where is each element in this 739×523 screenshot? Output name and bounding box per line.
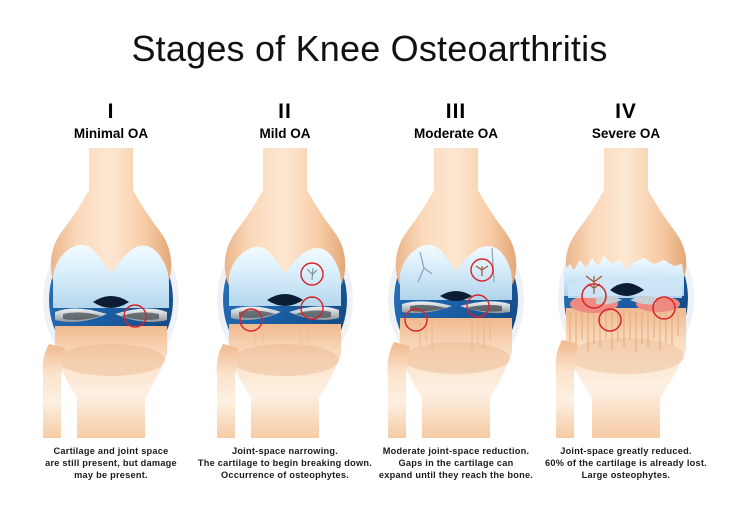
stage-caption: Moderate joint-space reduction. Gaps in … <box>360 445 552 482</box>
fibula-bone <box>43 344 65 438</box>
knee-illustration-stage-4 <box>534 148 718 438</box>
stage-caption: Joint-space greatly reduced. 60% of the … <box>530 445 722 482</box>
stage-numeral: I <box>19 100 203 124</box>
stage-panel-4: IV Severe OA <box>534 100 718 523</box>
stage-caption: Cartilage and joint space are still pres… <box>15 445 207 482</box>
stage-panels: I Minimal OA <box>0 100 739 523</box>
knee-osteoarthritis-infographic: Stages of Knee Osteoarthritis I Minimal … <box>0 0 739 523</box>
stage-name: Minimal OA <box>19 126 203 142</box>
stage-name: Moderate OA <box>364 126 548 142</box>
stage-panel-1: I Minimal OA <box>19 100 203 523</box>
knee-illustration-stage-1 <box>19 148 203 438</box>
fibula-bone <box>217 344 239 438</box>
stage-panel-3: III Moderate OA <box>364 100 548 523</box>
stage-name: Severe OA <box>534 126 718 142</box>
knee-illustration-stage-3 <box>364 148 548 438</box>
page-title: Stages of Knee Osteoarthritis <box>0 28 739 70</box>
fibula-bone <box>388 342 410 438</box>
tibia-bone <box>400 318 512 438</box>
tibia-bone <box>229 324 341 438</box>
stage-numeral: II <box>193 100 377 124</box>
stage-numeral: III <box>364 100 548 124</box>
knee-illustration-stage-2 <box>193 148 377 438</box>
stage-caption: Joint-space narrowing. The cartilage to … <box>189 445 381 482</box>
stage-panel-2: II Mild OA <box>193 100 377 523</box>
stage-numeral: IV <box>534 100 718 124</box>
tibia-bone <box>55 326 167 438</box>
fibula-bone <box>556 340 578 438</box>
stage-name: Mild OA <box>193 126 377 142</box>
